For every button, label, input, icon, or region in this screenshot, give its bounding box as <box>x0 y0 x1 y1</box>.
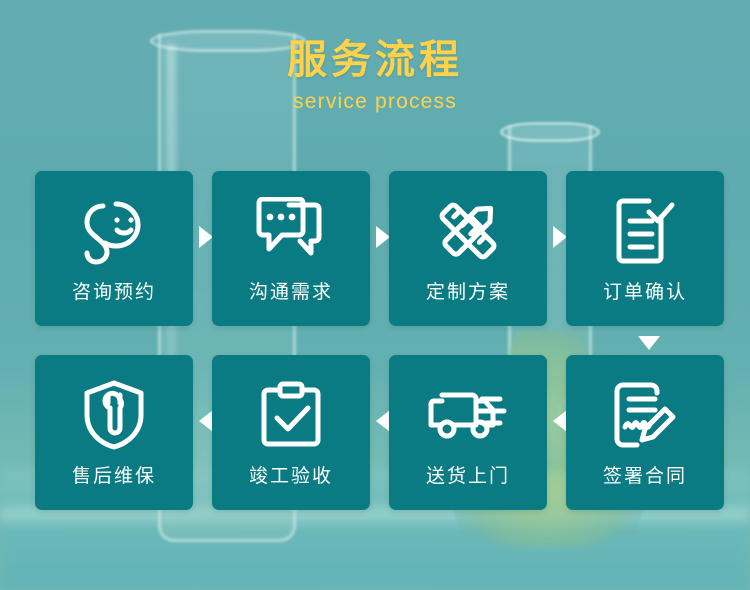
step-card-consultation[interactable]: 咨询预约 <box>35 171 193 326</box>
step-card-label: 定制方案 <box>389 277 547 304</box>
phone-smiley-icon <box>35 193 193 269</box>
clipboard-check-icon <box>212 377 370 453</box>
arrow-down-icon <box>638 336 660 350</box>
checklist-document-icon <box>566 193 724 269</box>
step-card-acceptance[interactable]: 竣工验收 <box>212 355 370 510</box>
service-process-banner: ○ ○ 服务流程 service process 咨询预约 <box>0 0 750 590</box>
step-card-label: 竣工验收 <box>212 461 370 488</box>
step-card-label: 签署合同 <box>566 461 724 488</box>
process-flow-grid: 咨询预约 沟通需求 <box>35 171 715 510</box>
step-card-delivery[interactable]: 送货上门 <box>389 355 547 510</box>
flask-rim <box>500 122 600 142</box>
step-card-label: 沟通需求 <box>212 277 370 304</box>
step-card-label: 送货上门 <box>389 461 547 488</box>
step-card-order-confirm[interactable]: 订单确认 <box>566 171 724 326</box>
page-title: 服务流程 <box>0 40 750 80</box>
step-card-label: 订单确认 <box>566 277 724 304</box>
pencil-ruler-icon <box>389 193 547 269</box>
step-card-communication[interactable]: 沟通需求 <box>212 171 370 326</box>
shield-wrench-icon <box>35 377 193 453</box>
step-card-custom-plan[interactable]: 定制方案 <box>389 171 547 326</box>
delivery-truck-icon <box>389 377 547 453</box>
arrow-left-icon <box>553 410 567 432</box>
step-card-label: 咨询预约 <box>35 277 193 304</box>
arrow-left-icon <box>199 410 213 432</box>
arrow-right-icon <box>199 226 213 248</box>
banner-header: 服务流程 service process <box>0 40 750 114</box>
step-card-label: 售后维保 <box>35 461 193 488</box>
arrow-right-icon <box>376 226 390 248</box>
process-row-bottom: 售后维保 竣工验收 <box>35 355 715 510</box>
contract-signature-icon <box>566 377 724 453</box>
arrow-right-icon <box>553 226 567 248</box>
step-card-sign-contract[interactable]: 签署合同 <box>566 355 724 510</box>
arrow-left-icon <box>376 410 390 432</box>
chat-bubbles-icon <box>212 193 370 269</box>
page-subtitle: service process <box>0 90 750 114</box>
step-card-after-sales[interactable]: 售后维保 <box>35 355 193 510</box>
process-row-top: 咨询预约 沟通需求 <box>35 171 715 326</box>
